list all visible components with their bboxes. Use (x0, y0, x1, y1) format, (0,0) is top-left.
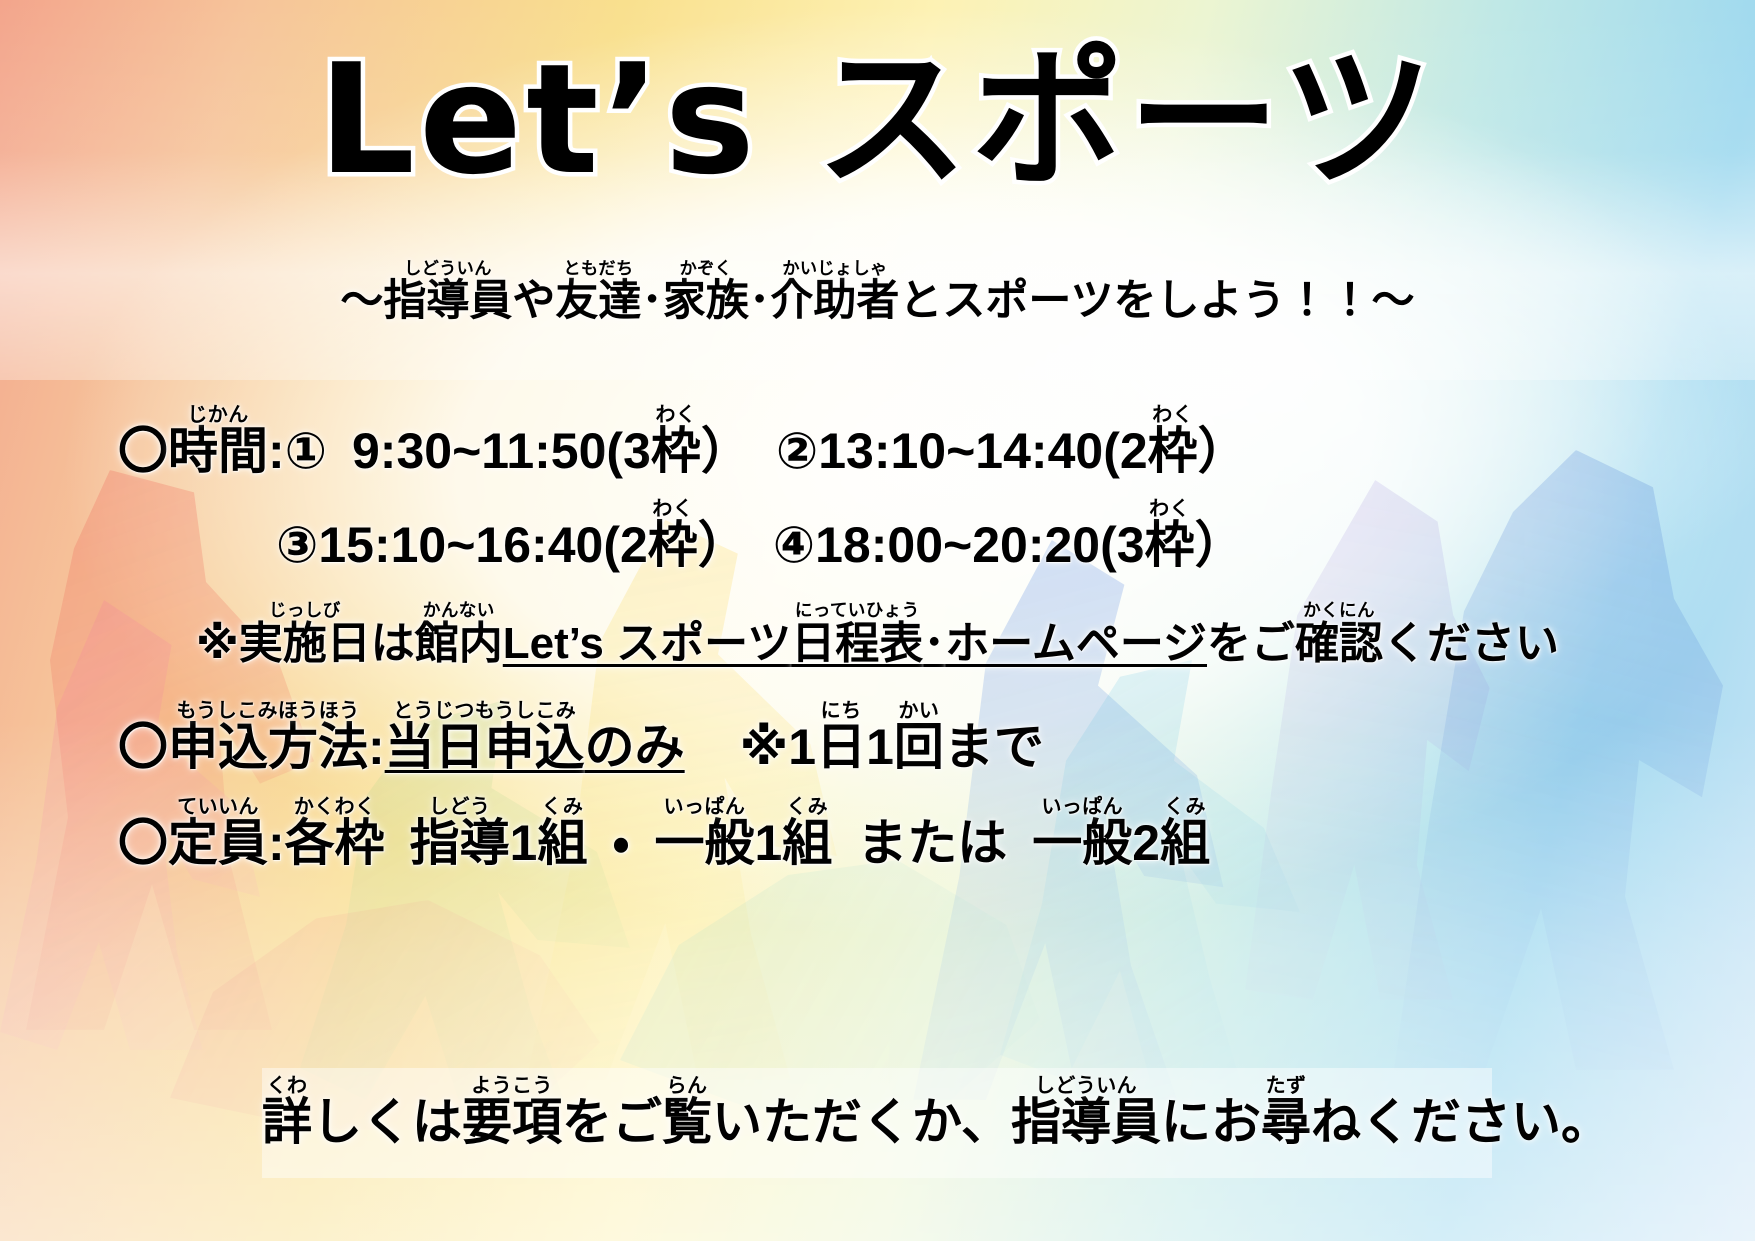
time-slot-2-range: 13:10~14:40 (818, 423, 1103, 479)
schedule-note-row: ※実施日じっしびは館内かんないLet’s スポーツ日程表にっていひょう･ホームペ… (196, 600, 1559, 671)
time-slot-3-paren-close: ） (698, 517, 748, 573)
footer-p8: にお (1161, 1094, 1261, 1150)
time-slot-3-unit-text: 枠 (648, 517, 698, 573)
apply-caution-num1: 1 (788, 719, 816, 775)
time-slot-1-count: 3 (623, 423, 651, 479)
capacity-item1-unit: 組くみ (537, 815, 587, 871)
ruby-shidouin: しどういん (383, 258, 512, 278)
footer-p6: いただくか、 (712, 1094, 1011, 1150)
time-label: 時間じかん (168, 423, 268, 479)
note-part6: ください (1383, 619, 1559, 668)
time-slot-1-unit: 枠わく (651, 423, 701, 479)
ruby-waku-3: わく (648, 498, 698, 520)
capacity-item3-unit: 組くみ (1160, 815, 1210, 871)
note-part1-text: 実施日 (239, 619, 371, 668)
ruby-teiin: ていいん (168, 796, 268, 818)
footer-p1-text: 詳 (262, 1094, 312, 1150)
ruby-shidou: しどう (410, 796, 510, 818)
footer-word-view: 覧らん (662, 1094, 712, 1150)
capacity-item1-text: 指導 (410, 815, 510, 871)
footer-p2: しくは (312, 1094, 462, 1150)
subtitle-word-instructor: 指導員しどういん (383, 277, 512, 325)
capacity-item3-label: 一般いっぱん (1032, 815, 1132, 871)
ruby-waku-1: わく (651, 404, 701, 426)
capacity-each-slot: 各枠かくわく (285, 815, 385, 871)
footer-word-detail: 詳くわ (262, 1094, 312, 1150)
capacity-row: 〇定員ていいん:各枠かくわく指導しどう1組くみ・一般いっぱん1組くみまたは一般い… (118, 796, 1210, 875)
poster-subtitle: 〜指導員しどういんや友達ともだち･家族かぞく･介助者かいじょしゃとスポーツをしよ… (0, 258, 1755, 328)
subtitle-word-helper: 介助者かいじょしゃ (770, 277, 899, 325)
poster-content: Let’s スポーツ 〜指導員しどういんや友達ともだち･家族かぞく･介助者かいじ… (0, 0, 1755, 1241)
apply-value-sameday: 当日申込とうじつもうしこみ (385, 719, 585, 775)
subtitle-word-friend: 友達ともだち (555, 277, 641, 325)
time-separator: : (268, 423, 285, 479)
subtitle-word-family: 家族かぞく (663, 277, 749, 325)
footer-word-ask: 尋たず (1261, 1094, 1311, 1150)
ruby-waku-4: わく (1145, 498, 1195, 520)
footer-p9-text: 尋 (1261, 1094, 1311, 1150)
apply-label: 申込方法もうしこみほうほう (168, 719, 368, 775)
subtitle-middot-1: ･ (641, 277, 663, 325)
footer-word-instructor: 指導員しどういん (1011, 1094, 1161, 1150)
capacity-item2-text: 一般 (654, 815, 754, 871)
time-slot-3-count: 2 (620, 517, 648, 573)
note-part3-text: 館内 (415, 619, 503, 668)
ruby-jisshibi: じっしび (239, 600, 371, 620)
time-label-text: 時間 (168, 423, 268, 479)
time-slot-1-paren-open: ( (606, 423, 623, 479)
ruby-shidouin-footer: しどういん (1011, 1075, 1161, 1097)
capacity-conj1: ・ (612, 815, 629, 871)
time-slot-3-unit: 枠わく (648, 517, 698, 573)
time-slot-3-paren-open: ( (603, 517, 620, 573)
footer-p5-text: 覧 (662, 1094, 712, 1150)
apply-label-text: 申込方法 (168, 719, 368, 775)
time-row-first: 〇時間じかん:①9:30~11:50(3枠わく）②13:10~14:40(2枠わ… (118, 404, 1248, 483)
apply-caution-day-text: 日 (816, 719, 866, 775)
footer-p7-text: 指導員 (1011, 1094, 1161, 1150)
time-slot-4-unit: 枠わく (1145, 517, 1195, 573)
time-slot-2-unit-text: 枠 (1148, 423, 1198, 479)
ruby-kaijosha: かいじょしゃ (770, 258, 899, 278)
capacity-item2-num: 1 (754, 815, 782, 871)
note-mark: ※ (196, 619, 239, 668)
ruby-kumi-3: くみ (1160, 796, 1210, 818)
apply-caution-num2: 1 (866, 719, 894, 775)
time-slot-1-range: 9:30~11:50 (352, 423, 606, 479)
time-slot-2-paren-open: ( (1103, 423, 1120, 479)
time-slot-2-paren-close: ） (1198, 423, 1248, 479)
apply-caution-tail: まで (944, 719, 1044, 775)
note-word-date: 実施日じっしび (239, 619, 371, 668)
ruby-nichi: にち (816, 700, 866, 722)
subtitle-tail: とスポーツをしよう！！〜 (899, 277, 1414, 325)
ruby-kumi-2: くみ (782, 796, 832, 818)
poster-canvas: Let’s スポーツ 〜指導員しどういんや友達ともだち･家族かぞく･介助者かいじ… (0, 0, 1755, 1241)
ruby-tomodachi: ともだち (555, 258, 641, 278)
capacity-item1-unit-text: 組 (537, 815, 587, 871)
time-slot-1-paren-close: ） (701, 423, 751, 479)
apply-value-text: 当日申込 (385, 719, 585, 775)
note-part2: は (371, 619, 415, 668)
time-slot-3-marker: ③ (276, 517, 318, 573)
capacity-item1-num: 1 (510, 815, 538, 871)
apply-separator: : (368, 719, 385, 775)
application-method-row: 〇申込方法もうしこみほうほう:当日申込とうじつもうしこみのみ※1日にち1回かいま… (118, 700, 1044, 779)
subtitle-tilde-open: 〜 (340, 277, 383, 325)
ruby-kannai: かんない (415, 600, 503, 620)
time-slot-3-range: 15:10~16:40 (318, 517, 603, 573)
footer-p4: をご (562, 1094, 662, 1150)
time-slot-2-unit: 枠わく (1148, 423, 1198, 479)
time-bullet: 〇 (118, 423, 168, 479)
capacity-separator: : (268, 815, 285, 871)
ruby-kumi-1: くみ (537, 796, 587, 818)
note-link-lets-sports[interactable]: Let’s スポーツ (503, 619, 791, 668)
subtitle-middot-2: ･ (749, 277, 771, 325)
ruby-toujitsumoushikomi: とうじつもうしこみ (385, 700, 585, 722)
ruby-jikan: じかん (168, 404, 268, 426)
apply-caution-day: 日にち (816, 719, 866, 775)
time-slot-2-count: 2 (1120, 423, 1148, 479)
footer-banner-text: 詳くわしくは要項ようこうをご覧らんいただくか、指導員しどういんにお尋たずねくださ… (262, 1075, 1492, 1154)
time-slot-2-marker: ② (776, 423, 818, 479)
ruby-ippan-1: いっぱん (654, 796, 754, 818)
note-link2a-text: 日程表 (791, 619, 923, 668)
capacity-each-text: 各枠 (285, 815, 385, 871)
capacity-item3-unit-text: 組 (1160, 815, 1210, 871)
capacity-bullet: 〇 (118, 815, 168, 871)
ruby-nitteihyou: にっていひょう (791, 600, 923, 620)
capacity-item2-unit: 組くみ (782, 815, 832, 871)
footer-p10: ねください。 (1311, 1094, 1611, 1150)
capacity-conj2: または (857, 815, 1007, 871)
subtitle-particle-ya: や (512, 277, 555, 325)
time-slot-4-range: 18:00~20:20 (815, 517, 1100, 573)
footer-word-guidelines: 要項ようこう (462, 1094, 562, 1150)
ruby-kazoku: かぞく (663, 258, 749, 278)
capacity-item1-label: 指導しどう (410, 815, 510, 871)
time-slot-4-count: 3 (1117, 517, 1145, 573)
time-row-second: ③15:10~16:40(2枠わく）④18:00~20:20(3枠わく） (276, 498, 1245, 577)
ruby-waku-2: わく (1148, 404, 1198, 426)
time-slot-1-unit-text: 枠 (651, 423, 701, 479)
footer-p3-text: 要項 (462, 1094, 562, 1150)
ruby-tazu: たず (1261, 1075, 1311, 1097)
ruby-kakunin: かくにん (1295, 600, 1383, 620)
ruby-ippan-2: いっぱん (1032, 796, 1132, 818)
time-slot-4-paren-close: ） (1195, 517, 1245, 573)
capacity-item2-label: 一般いっぱん (654, 815, 754, 871)
apply-caution-mark: ※ (740, 719, 789, 775)
note-word-confirm: 確認かくにん (1295, 619, 1383, 668)
apply-value-tail: のみ (585, 719, 685, 775)
ruby-kuwa: くわ (262, 1075, 312, 1097)
ruby-moushikomihouhou: もうしこみほうほう (168, 700, 368, 722)
ruby-kai: かい (894, 700, 944, 722)
apply-caution-time-text: 回 (894, 719, 944, 775)
note-part5-text: 確認 (1295, 619, 1383, 668)
poster-title: Let’s スポーツ (0, 44, 1755, 196)
time-slot-4-paren-open: ( (1100, 517, 1117, 573)
note-word-inside: 館内かんない (415, 619, 503, 668)
capacity-label: 定員ていいん (168, 815, 268, 871)
ruby-kakuwaku: かくわく (285, 796, 385, 818)
time-slot-4-marker: ④ (773, 517, 815, 573)
note-link-schedule-table[interactable]: 日程表にっていひょう (791, 619, 923, 668)
time-slot-4-unit-text: 枠 (1145, 517, 1195, 573)
capacity-label-text: 定員 (168, 815, 268, 871)
capacity-item2-unit-text: 組 (782, 815, 832, 871)
note-link-homepage[interactable]: ホームページ (945, 619, 1207, 668)
apply-caution-time: 回かい (894, 719, 944, 775)
ruby-youkou: ようこう (462, 1075, 562, 1097)
time-slot-1-marker: ① (285, 423, 327, 479)
ruby-ran: らん (662, 1075, 712, 1097)
note-middot: ･ (923, 619, 945, 668)
capacity-item3-text: 一般 (1032, 815, 1132, 871)
capacity-item3-num: 2 (1132, 815, 1160, 871)
apply-bullet: 〇 (118, 719, 168, 775)
note-part4: をご (1207, 619, 1295, 668)
